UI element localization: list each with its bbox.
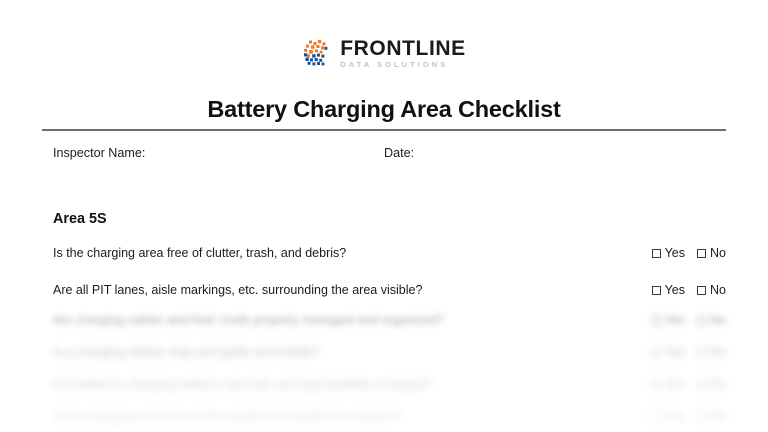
question-text: Is the charging area free of clutter, tr… [53,246,346,260]
checkbox-yes-icon[interactable] [652,249,661,258]
option-yes-label: Yes [665,283,685,297]
checkbox-yes-icon[interactable] [652,348,661,357]
checklist-row-obscured: Are batteries charging stations securely… [53,377,726,399]
option-yes-label: Yes [665,409,685,423]
option-yes-label: Yes [665,246,685,260]
checkbox-yes-icon[interactable] [652,316,661,325]
option-yes-label: Yes [665,377,685,391]
question-options: Yes No [652,313,726,327]
brand-logo: FRONTLINE DATA SOLUTIONS [10,38,758,69]
checklist-row-obscured: Is a charging station map and guide acce… [53,345,726,367]
option-no-label: No [710,283,726,297]
checklist-row: Is the charging area free of clutter, tr… [53,246,726,268]
option-no-label: No [710,345,726,359]
date-label: Date: [384,146,414,160]
document-page: FRONTLINE DATA SOLUTIONS Battery Chargin… [10,0,758,432]
checklist-row: Are all PIT lanes, aisle markings, etc. … [53,283,726,305]
checklist-row-obscured: Is the charging area free of the equipme… [53,409,726,431]
option-no-label: No [710,246,726,260]
logo-wordmark: FRONTLINE DATA SOLUTIONS [340,38,466,69]
option-no-label: No [710,377,726,391]
option-no[interactable]: No [697,345,726,359]
checkbox-no-icon[interactable] [697,249,706,258]
option-yes[interactable]: Yes [652,246,685,260]
logo-name: FRONTLINE [340,38,466,59]
checkbox-yes-icon[interactable] [652,380,661,389]
question-text: Is a charging station map and guide acce… [53,345,320,359]
inspector-name-label: Inspector Name: [53,146,145,160]
checkbox-no-icon[interactable] [697,380,706,389]
option-yes-label: Yes [665,313,685,327]
question-text: Are all PIT lanes, aisle markings, etc. … [53,283,422,297]
option-no[interactable]: No [697,377,726,391]
option-no[interactable]: No [697,283,726,297]
checkbox-no-icon[interactable] [697,412,706,421]
option-yes[interactable]: Yes [652,345,685,359]
option-yes[interactable]: Yes [652,283,685,297]
question-options: Yes No [652,377,726,391]
option-no-label: No [710,313,726,327]
checklist-row-obscured: Are charging cables and their cords prop… [53,313,726,335]
checkbox-no-icon[interactable] [697,286,706,295]
option-no[interactable]: No [697,246,726,260]
question-text: Are charging cables and their cords prop… [53,313,444,327]
checkbox-yes-icon[interactable] [652,286,661,295]
logo-subtitle: DATA SOLUTIONS [340,61,466,69]
option-no[interactable]: No [697,409,726,423]
question-text: Are batteries charging stations securely… [53,377,432,391]
option-no[interactable]: No [697,313,726,327]
option-no-label: No [710,409,726,423]
option-yes-label: Yes [665,345,685,359]
question-options: Yes No [652,345,726,359]
option-yes[interactable]: Yes [652,313,685,327]
section-heading-area-5s: Area 5S [53,211,107,227]
option-yes[interactable]: Yes [652,409,685,423]
option-yes[interactable]: Yes [652,377,685,391]
checkbox-yes-icon[interactable] [652,412,661,421]
logo-group: FRONTLINE DATA SOLUTIONS [302,38,466,69]
checkbox-no-icon[interactable] [697,348,706,357]
question-options: Yes No [652,283,726,297]
frontline-dots-logo-icon [302,39,332,67]
question-options: Yes No [652,246,726,260]
page-title: Battery Charging Area Checklist [10,96,758,123]
inspection-meta-row: Inspector Name: Date: [42,146,726,164]
checkbox-no-icon[interactable] [697,316,706,325]
question-options: Yes No [652,409,726,423]
question-text: Is the charging area free of the equipme… [53,409,402,423]
title-divider [42,129,726,131]
